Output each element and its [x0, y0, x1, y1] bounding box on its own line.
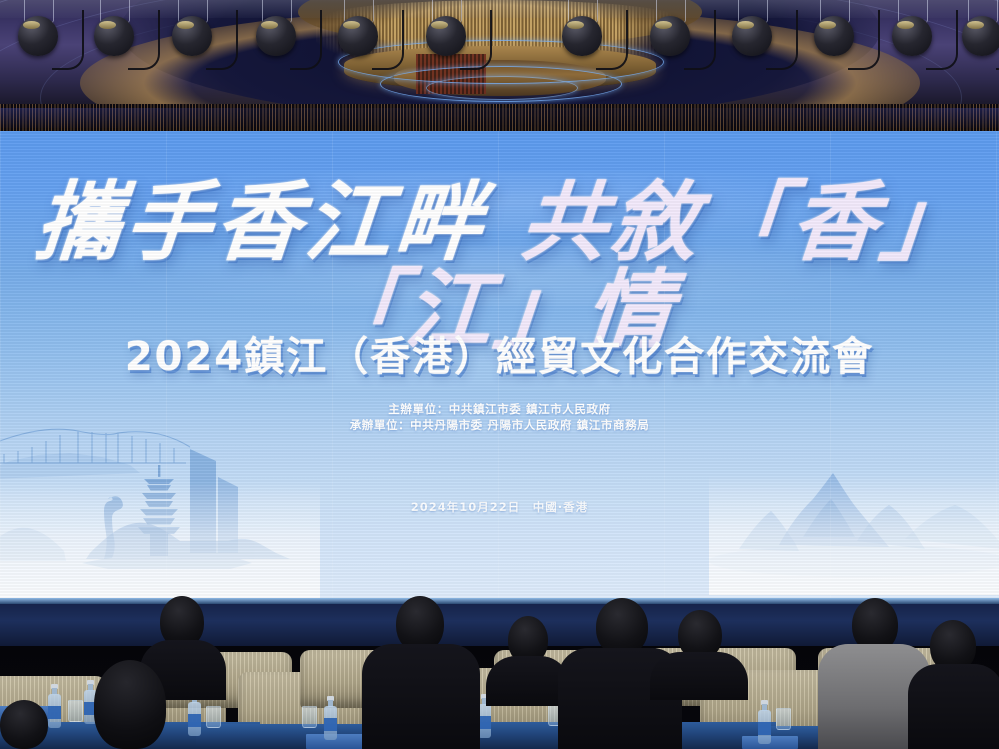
stage-light [16, 0, 60, 70]
stage-light [560, 0, 604, 70]
stage-light [890, 0, 934, 70]
audience-person-torso [362, 644, 480, 749]
conference-stage-scene: 攜手香江畔共敘「香」「江」情 2024鎮江（香港）經貿文化合作交流會 主辦單位：… [0, 0, 999, 749]
stage-light-cable [372, 10, 404, 70]
stage-light-lens [261, 21, 278, 29]
ceiling-slat-glow [0, 108, 999, 128]
stage-light-lens [567, 21, 584, 29]
stage-light [254, 0, 298, 70]
drinking-glass [68, 700, 83, 722]
organizer-block: 主辦單位：中共鎮江市委 鎮江市人民政府 承辦單位：中共丹陽市委 丹陽市人民政府 … [0, 401, 999, 433]
stage-light-cable [52, 10, 84, 70]
event-subtitle: 2024鎮江（香港）經貿文化合作交流會 [0, 324, 999, 382]
stage-light-lens [343, 21, 360, 29]
led-backdrop-screen: 攜手香江畔共敘「香」「江」情 2024鎮江（香港）經貿文化合作交流會 主辦單位：… [0, 131, 999, 601]
stage-light-cable [766, 10, 798, 70]
audience-person-head [94, 660, 166, 749]
organizer-line-host: 主辦單位：中共鎮江市委 鎮江市人民政府 [0, 401, 999, 417]
calligraphy-part-1: 攜手香江畔 [31, 172, 490, 273]
stage-light-lens [655, 21, 672, 29]
drinking-glass [302, 706, 317, 728]
event-dateline: 2024年10月22日 中國·香港 [0, 499, 999, 515]
stage-light-lens [737, 21, 754, 29]
stage-light-cable [596, 10, 628, 70]
stage-light-lens [897, 21, 914, 29]
drinking-glass [776, 708, 791, 730]
stage-light [336, 0, 380, 70]
stage-light-cable [460, 10, 492, 70]
artwork-mist-right [709, 475, 999, 595]
drinking-glass [206, 706, 221, 728]
stage-light-cable [848, 10, 880, 70]
stage-light [812, 0, 856, 70]
stage-light [170, 0, 214, 70]
stage-navy-band [0, 604, 999, 646]
stage-light [648, 0, 692, 70]
stage-light [960, 0, 999, 70]
stage-light-lens [99, 21, 116, 29]
stage-light [92, 0, 136, 70]
audience-person-head [0, 700, 48, 749]
audience-person-torso [650, 652, 748, 700]
stage-light-lens [431, 21, 448, 29]
stage-light-cable [290, 10, 322, 70]
stage-light [424, 0, 468, 70]
stage-light-cable [206, 10, 238, 70]
stage-light [730, 0, 774, 70]
organizer-line-coorganizer: 承辦單位：中共丹陽市委 丹陽市人民政府 鎮江市商務局 [0, 417, 999, 433]
stage-light-cable [684, 10, 716, 70]
stage-light-lens [23, 21, 40, 29]
audience-person-torso [908, 664, 999, 749]
stage-light-cable [128, 10, 160, 70]
stage-light-lens [819, 21, 836, 29]
stage-light-cable [926, 10, 958, 70]
stage-light-lens [967, 21, 984, 29]
stage-light-lens [177, 21, 194, 29]
chandelier-led-ring [426, 76, 578, 100]
